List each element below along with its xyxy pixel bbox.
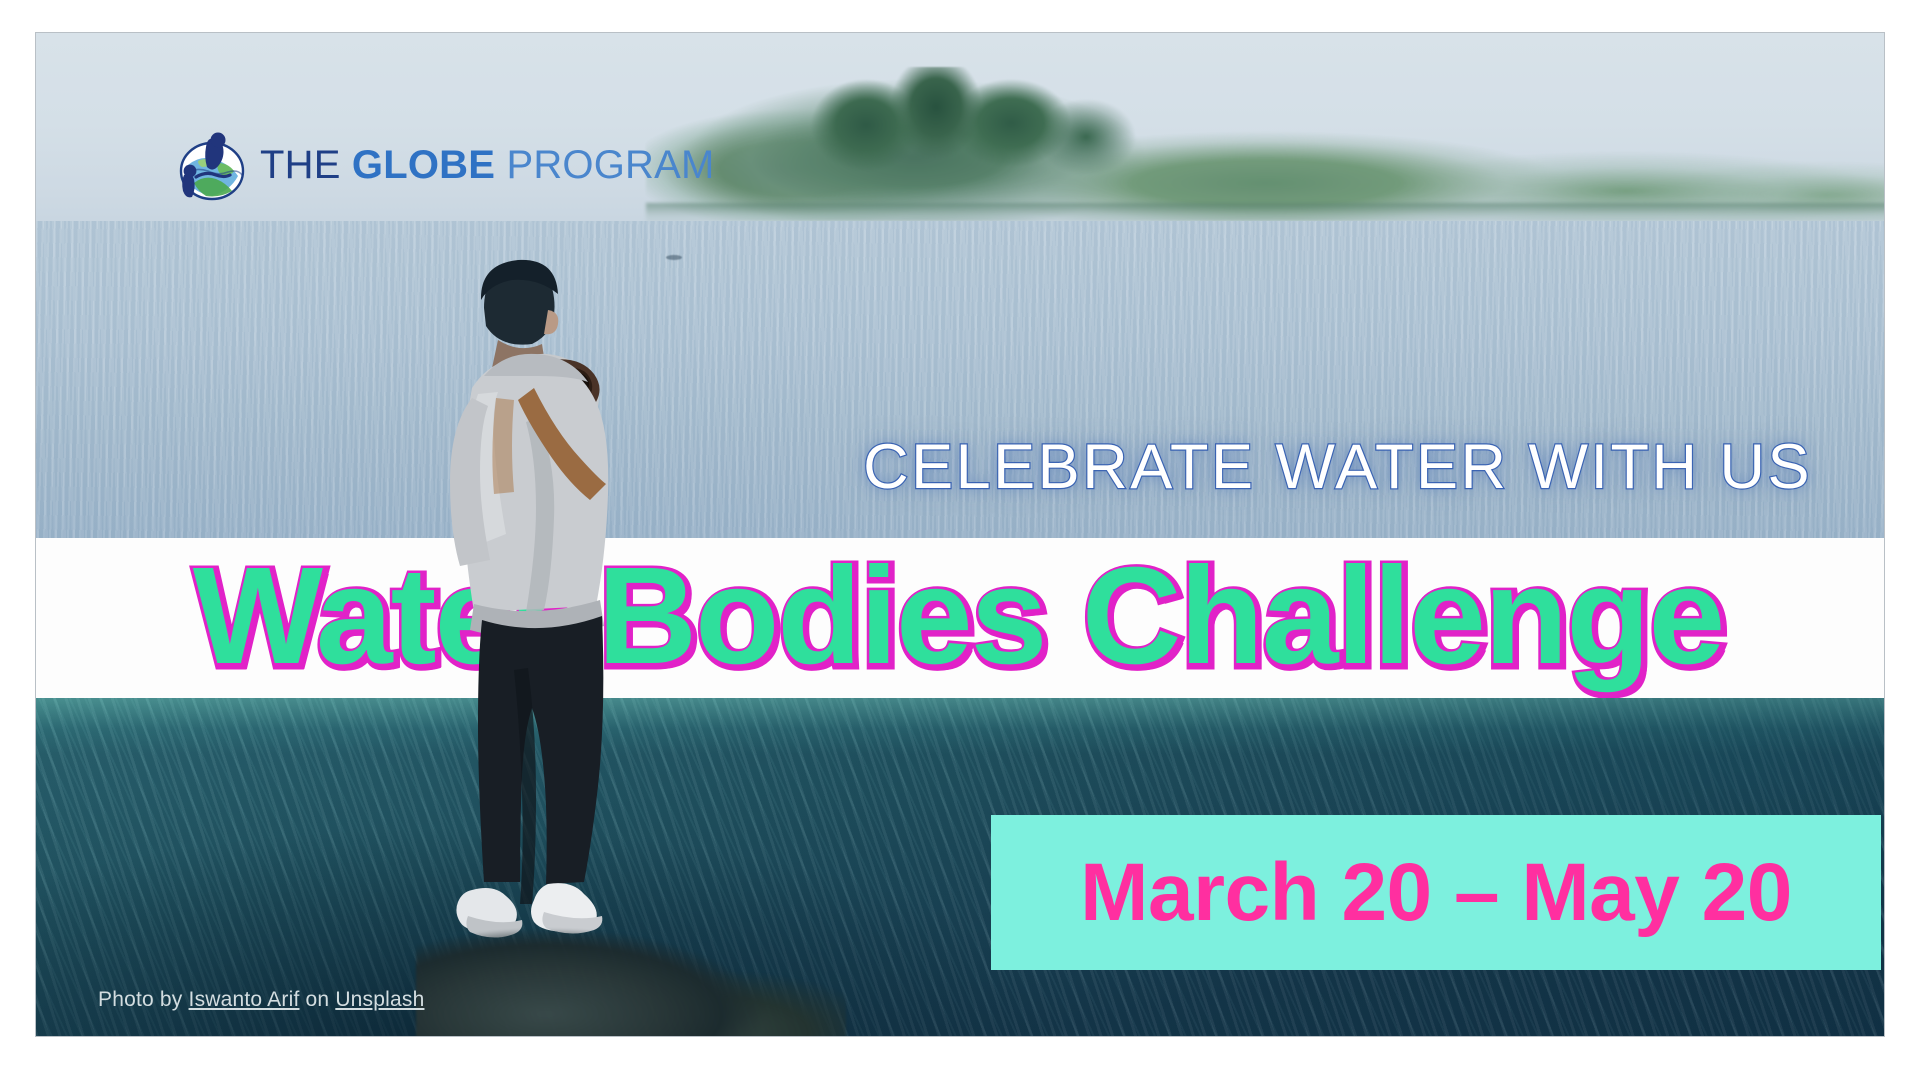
logo-word-globe: GLOBE <box>352 143 495 187</box>
credit-source-link[interactable]: Unsplash <box>335 988 424 1011</box>
main-title: Water Bodies Challenge Water Bodies Chal… <box>195 549 1726 687</box>
title-band: Water Bodies Challenge Water Bodies Chal… <box>36 538 1884 698</box>
credit-prefix: Photo by <box>98 988 189 1011</box>
poster-frame: THE GLOBE PROGRAM CELEBRATE WATER WITH U… <box>35 32 1885 1037</box>
tagline-celebrate-water: CELEBRATE WATER WITH US <box>863 431 1812 503</box>
logo-wordmark: THE GLOBE PROGRAM <box>260 145 715 188</box>
globe-people-icon <box>174 131 250 201</box>
date-badge: March 20 – May 20 <box>991 815 1881 970</box>
photo-credit: Photo by Iswanto Arif on Unsplash <box>98 988 424 1012</box>
island-canopy <box>806 67 1146 197</box>
shore-rock <box>416 928 846 1037</box>
credit-middle: on <box>299 988 335 1011</box>
logo-word-program: PROGRAM <box>495 143 714 187</box>
credit-author-link[interactable]: Iswanto Arif <box>189 988 300 1011</box>
date-range-text: March 20 – May 20 <box>1080 852 1792 934</box>
main-title-fill: Water Bodies Challenge <box>193 547 1724 685</box>
logo-word-the: THE <box>260 143 352 187</box>
globe-program-logo[interactable]: THE GLOBE PROGRAM <box>174 131 715 201</box>
distant-boat <box>666 255 682 260</box>
